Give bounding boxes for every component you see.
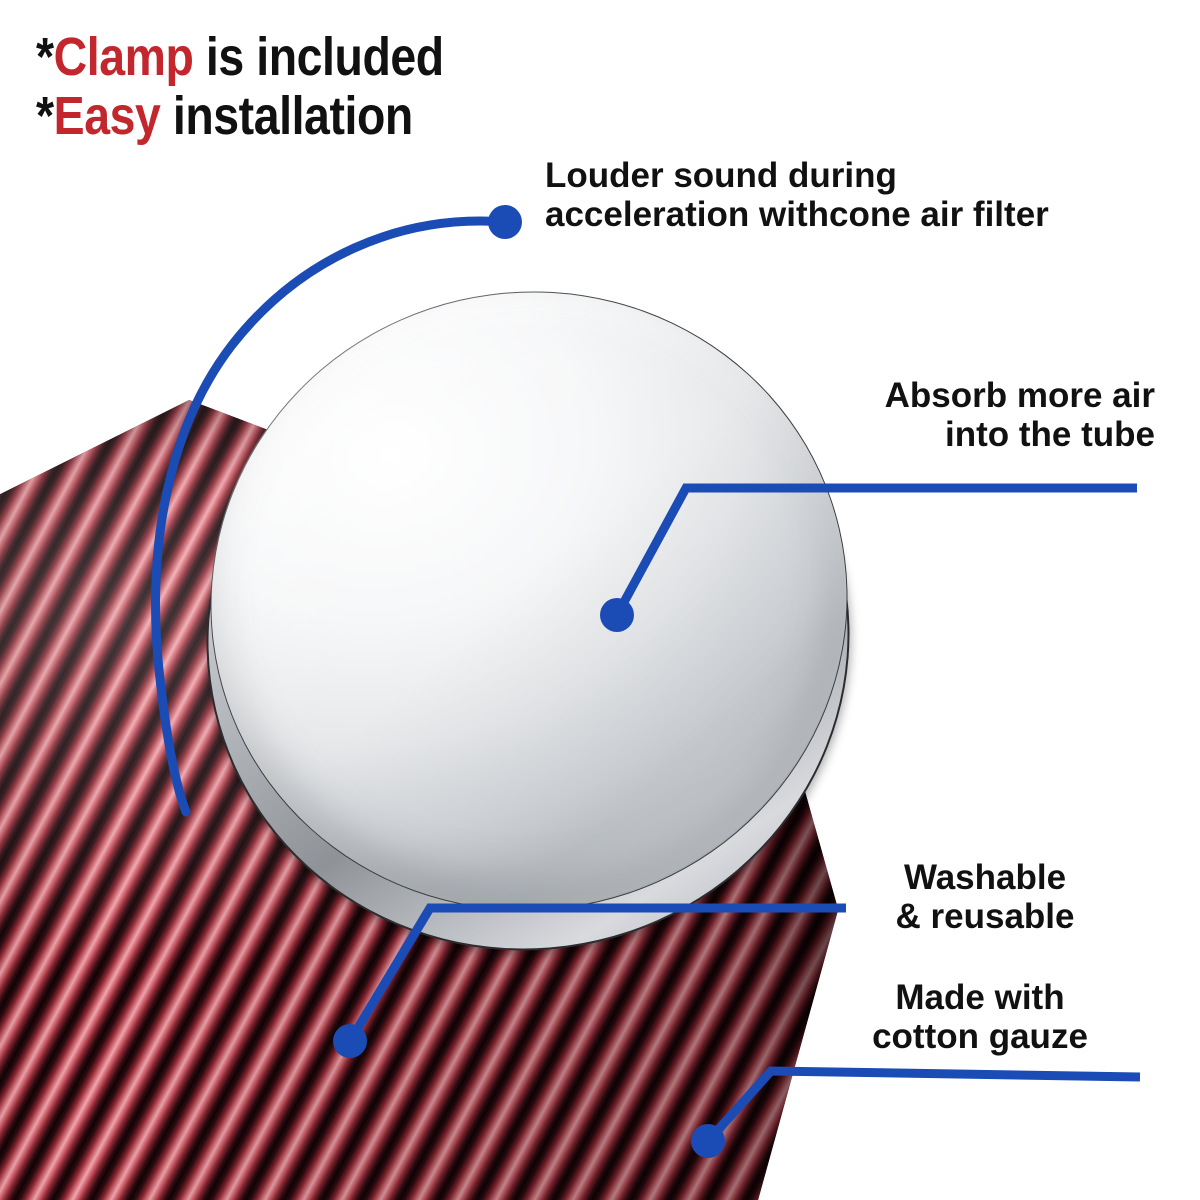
callout-line-louder-sound — [156, 221, 505, 812]
headline-highlight-clamp: Clamp — [54, 27, 194, 87]
callout-line-made-with-cotton-gauze — [708, 1071, 1140, 1141]
callout-dot-made-with-cotton-gauze — [691, 1124, 725, 1158]
filter-media-cotton-gauze — [0, 400, 850, 1200]
callout-dot-absorb-more-air — [600, 598, 634, 632]
callout-line-washable-reusable — [350, 908, 846, 1041]
callout-dot-washable-reusable — [333, 1024, 367, 1058]
headline-highlight-easy: Easy — [54, 86, 161, 146]
callout-label-made-with-cotton-gauze: Made with cotton gauze — [800, 978, 1160, 1056]
headline-asterisk-2: * — [36, 86, 54, 146]
callout-label-absorb-more-air: Absorb more air into the tube — [700, 376, 1155, 454]
headline-rest-clamp: is included — [193, 27, 443, 87]
infographic-canvas: *Clamp is included *Easy installation Lo… — [0, 0, 1200, 1200]
headline-line-clamp: *Clamp is included — [36, 30, 444, 85]
product-image-cone-air-filter — [0, 400, 850, 1200]
filter-shading-overlay — [0, 400, 850, 1200]
headline-rest-easy: installation — [160, 86, 412, 146]
headline-line-easy: *Easy installation — [36, 89, 444, 144]
callout-label-louder-sound: Louder sound during acceleration withcon… — [545, 156, 1049, 234]
chrome-gloss-highlight — [149, 228, 907, 971]
chrome-disc — [149, 228, 910, 974]
callout-line-absorb-more-air — [617, 488, 1137, 615]
headline-asterisk-1: * — [36, 27, 54, 87]
callout-label-washable-reusable: Washable & reusable — [810, 858, 1160, 936]
headline-block: *Clamp is included *Easy installation — [36, 30, 510, 148]
callout-dot-louder-sound — [488, 205, 522, 239]
chrome-rim — [144, 262, 912, 1015]
